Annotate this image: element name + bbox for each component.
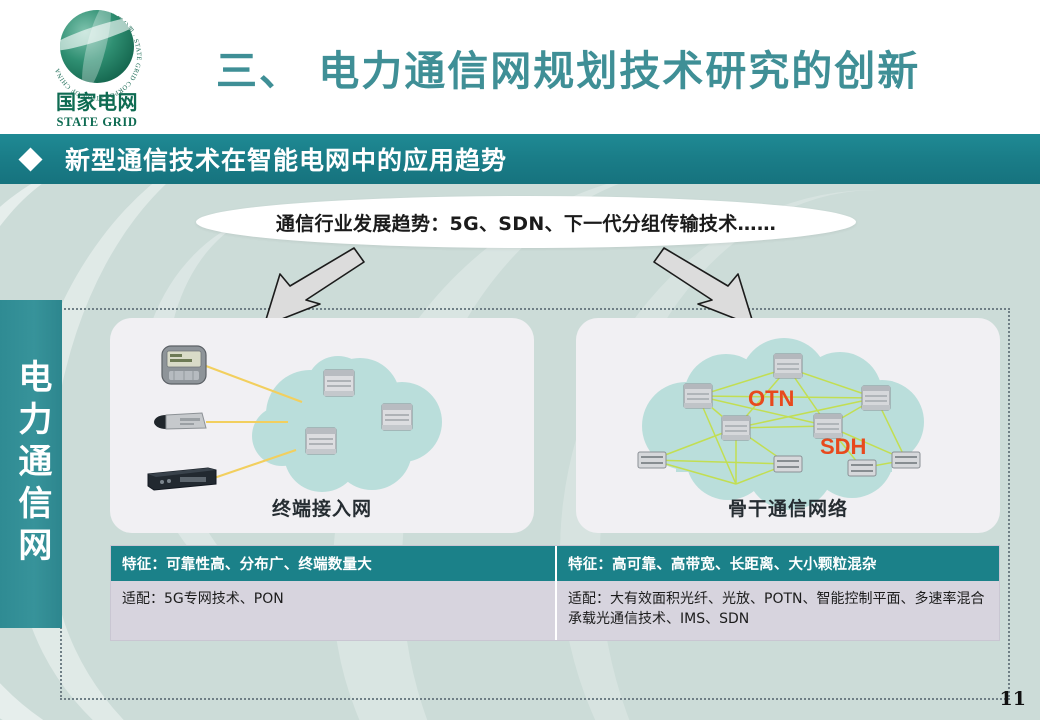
- page-title: 三、 电力通信网规划技术研究的创新: [216, 37, 920, 97]
- trend-callout-text: 通信行业发展趋势：5G、SDN、下一代分组传输技术……: [276, 209, 776, 236]
- backbone-node-icon: [774, 354, 802, 378]
- sdh-label: SDH: [820, 434, 866, 459]
- handheld-terminal-icon: [162, 346, 206, 384]
- backbone-network-caption: 骨干通信网络: [576, 494, 1000, 521]
- backbone-node-icon: [862, 386, 890, 410]
- table-header-cell: 特征：可靠性高、分布广、终端数量大: [111, 546, 555, 581]
- slide: 国家电网公司 · STATE GRID CORPORATION OF CHINA…: [0, 0, 1040, 720]
- table-body-cell: 适配：大有效面积光纤、光放、POTN、智能控制平面、多速率混合承载光通信技术、I…: [557, 581, 999, 640]
- rack-device-icon: [148, 468, 216, 490]
- table-body-cell: 适配：5G专网技术、PON: [111, 581, 555, 637]
- backbone-node-icon: [892, 452, 920, 468]
- access-network-table: 特征：可靠性高、分布广、终端数量大 适配：5G专网技术、PON: [111, 546, 555, 640]
- backbone-node-icon: [684, 384, 712, 408]
- side-label-bar: 电力通信网: [0, 300, 62, 628]
- modem-device-icon: [154, 413, 206, 429]
- access-network-caption: 终端接入网: [110, 494, 534, 521]
- network-panels: 终端接入网: [110, 318, 1000, 533]
- section-title: 新型通信技术在智能电网中的应用趋势: [65, 141, 507, 177]
- backbone-node-icon: [638, 452, 666, 468]
- switch-node-icon: [306, 428, 336, 454]
- backbone-network-panel: OTN SDH 骨干通信网络: [576, 318, 1000, 533]
- side-label-text: 电力通信网: [13, 359, 49, 569]
- diamond-bullet-icon: [18, 147, 42, 171]
- slide-header: 国家电网公司 · STATE GRID CORPORATION OF CHINA…: [0, 0, 1040, 134]
- page-number: 11: [1000, 688, 1026, 710]
- backbone-node-icon: [848, 460, 876, 476]
- logo-globe-icon: [60, 10, 134, 83]
- state-grid-logo: 国家电网公司 · STATE GRID CORPORATION OF CHINA…: [22, 4, 172, 130]
- otn-label: OTN: [748, 386, 794, 411]
- backbone-network-table: 特征：高可靠、高带宽、长距离、大小颗粒混杂 适配：大有效面积光纤、光放、POTN…: [555, 546, 999, 640]
- switch-node-icon: [382, 404, 412, 430]
- section-header-bar: 新型通信技术在智能电网中的应用趋势: [0, 134, 1040, 184]
- table-header-cell: 特征：高可靠、高带宽、长距离、大小颗粒混杂: [557, 546, 999, 581]
- access-network-panel: 终端接入网: [110, 318, 534, 533]
- comparison-tables: 特征：可靠性高、分布广、终端数量大 适配：5G专网技术、PON 特征：高可靠、高…: [110, 545, 1000, 641]
- trend-callout: 通信行业发展趋势：5G、SDN、下一代分组传输技术……: [196, 196, 856, 248]
- backbone-node-icon: [774, 456, 802, 472]
- switch-node-icon: [324, 370, 354, 396]
- logo-english-name: STATE GRID: [57, 115, 138, 130]
- backbone-node-icon: [722, 416, 750, 440]
